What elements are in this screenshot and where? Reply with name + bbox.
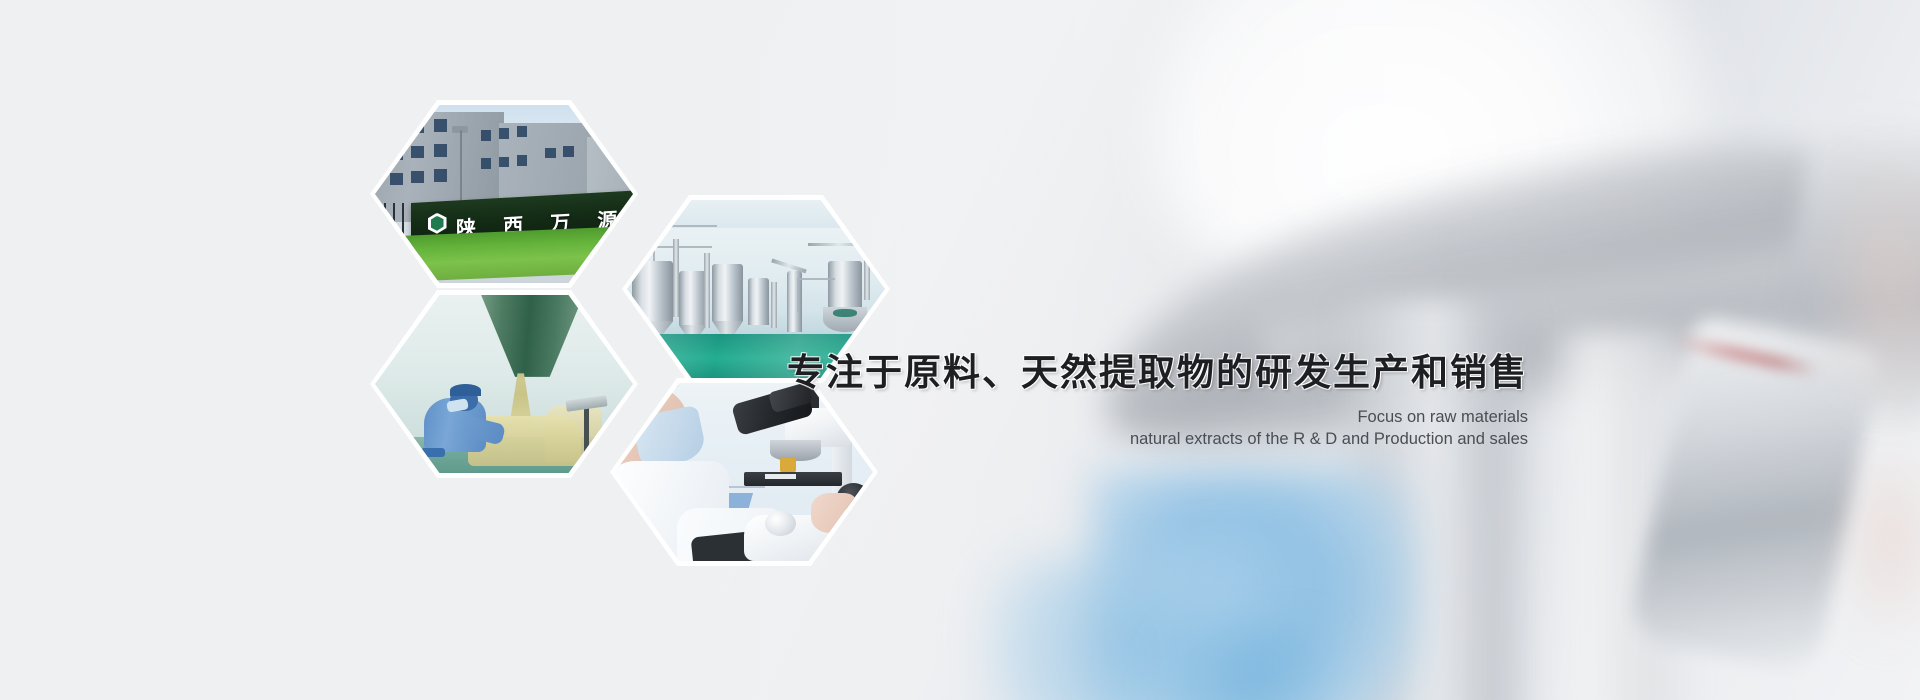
banner-text-block: 专注于原料、天然提取物的研发生产和销售 Focus on raw materia… [768, 352, 1528, 451]
technician-hand [811, 493, 857, 532]
window [411, 146, 424, 158]
subtitle-line-1: Focus on raw materials [768, 407, 1528, 429]
pipe [704, 253, 709, 328]
window [499, 157, 509, 168]
hex-factory-image: SHAANXI WANYUAN 陕 西 万 源 [375, 105, 633, 283]
extraction-tank [748, 278, 769, 324]
blurred-blue-glove-shadow [1150, 620, 1350, 700]
microscope-objective [780, 458, 795, 472]
window [563, 146, 573, 157]
microscope-focus-knob [765, 511, 796, 536]
blurred-skin-tone-upper [1820, 150, 1920, 410]
window [434, 119, 447, 131]
microscope-base [744, 515, 858, 561]
pipe [864, 246, 869, 299]
blurred-skin-tone-lower [1830, 430, 1920, 650]
window [517, 155, 527, 166]
pipe [673, 239, 678, 317]
subtitle-line-2: natural extracts of the R & D and Produc… [768, 429, 1528, 451]
hexagon-photo-cluster: SHAANXI WANYUAN 陕 西 万 源 [0, 0, 1000, 700]
hex-worker-image [375, 295, 633, 473]
pipe [771, 282, 776, 328]
window [390, 173, 403, 185]
worker-cap [450, 384, 481, 396]
street-lamp-pole [460, 130, 462, 208]
window [499, 128, 509, 139]
window [411, 121, 424, 133]
window [481, 158, 491, 169]
extraction-tank [679, 271, 707, 324]
banner-root: SHAANXI WANYUAN 陕 西 万 源 [0, 0, 1920, 700]
extraction-tank [632, 261, 673, 322]
window [390, 148, 403, 160]
extraction-tank [712, 264, 743, 321]
hex-factory[interactable]: SHAANXI WANYUAN 陕 西 万 源 [370, 100, 638, 288]
lawn [375, 226, 633, 283]
window [434, 144, 447, 156]
window [390, 123, 403, 135]
bowl-contents [833, 309, 856, 318]
platform-rail [797, 278, 835, 312]
page-title: 专注于原料、天然提取物的研发生产和销售 [768, 352, 1528, 393]
workshop-ceiling [627, 200, 885, 228]
pipe [808, 243, 870, 247]
window [481, 130, 491, 141]
worker-shoe-cover [421, 448, 444, 457]
window [517, 126, 527, 137]
window [545, 148, 555, 159]
equipment-stand [584, 405, 589, 451]
hex-worker[interactable] [370, 290, 638, 478]
window [411, 171, 424, 183]
window [434, 169, 447, 181]
microscope-slide [765, 474, 796, 479]
logo-hexagon-icon [428, 212, 447, 234]
